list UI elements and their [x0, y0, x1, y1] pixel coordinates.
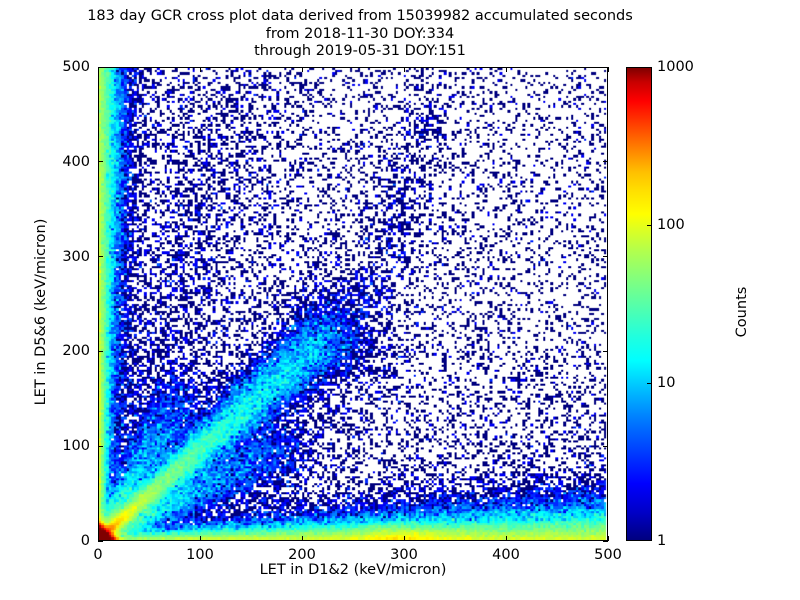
x-tick-label: 200	[288, 547, 316, 563]
x-tick-mark	[302, 536, 303, 541]
colorbar	[626, 67, 652, 541]
colorbar-tick-label: 10	[657, 375, 675, 391]
x-tick-label: 400	[492, 547, 520, 563]
y-axis-label: LET in D5&6 (keV/micron)	[33, 182, 49, 442]
y-tick-mark	[98, 351, 103, 352]
x-tick-mark	[200, 536, 201, 541]
y-tick-mark	[98, 67, 103, 68]
y-tick-mark	[98, 446, 103, 447]
y-tick-mark-right	[603, 446, 608, 447]
plot-axes	[98, 67, 608, 541]
y-tick-label: 0	[40, 533, 90, 549]
x-axis-label: LET in D1&2 (keV/micron)	[98, 562, 608, 578]
title-line-1: 183 day GCR cross plot data derived from…	[0, 8, 720, 26]
x-tick-mark-top	[302, 67, 303, 72]
colorbar-tick-mark	[647, 225, 652, 226]
y-tick-label: 400	[40, 154, 90, 170]
scatter-density-canvas	[99, 68, 607, 540]
x-tick-label: 100	[186, 547, 214, 563]
x-tick-mark-top	[506, 67, 507, 72]
y-tick-mark	[98, 161, 103, 162]
x-tick-label: 300	[390, 547, 418, 563]
x-tick-label: 0	[93, 547, 102, 563]
x-tick-mark-top	[98, 67, 99, 72]
y-tick-mark-right	[603, 67, 608, 68]
colorbar-tick-label: 1	[657, 533, 666, 549]
y-tick-mark-right	[603, 351, 608, 352]
x-tick-mark	[506, 536, 507, 541]
y-tick-mark	[98, 256, 103, 257]
x-tick-label: 500	[594, 547, 622, 563]
x-tick-mark-top	[608, 67, 609, 72]
title-line-3: through 2019-05-31 DOY:151	[0, 43, 720, 61]
colorbar-tick-mark	[647, 383, 652, 384]
y-tick-mark-right	[603, 541, 608, 542]
y-tick-mark	[98, 541, 103, 542]
colorbar-title: Counts	[734, 232, 750, 392]
y-tick-mark-right	[603, 256, 608, 257]
x-tick-mark	[404, 536, 405, 541]
plot-title: 183 day GCR cross plot data derived from…	[0, 8, 720, 61]
y-tick-label: 500	[40, 59, 90, 75]
colorbar-tick-label: 100	[657, 217, 685, 233]
title-line-2: from 2018-11-30 DOY:334	[0, 26, 720, 44]
x-tick-mark-top	[404, 67, 405, 72]
figure: 183 day GCR cross plot data derived from…	[0, 0, 800, 600]
y-tick-mark-right	[603, 161, 608, 162]
x-tick-mark-top	[200, 67, 201, 72]
colorbar-tick-label: 1000	[657, 59, 694, 75]
